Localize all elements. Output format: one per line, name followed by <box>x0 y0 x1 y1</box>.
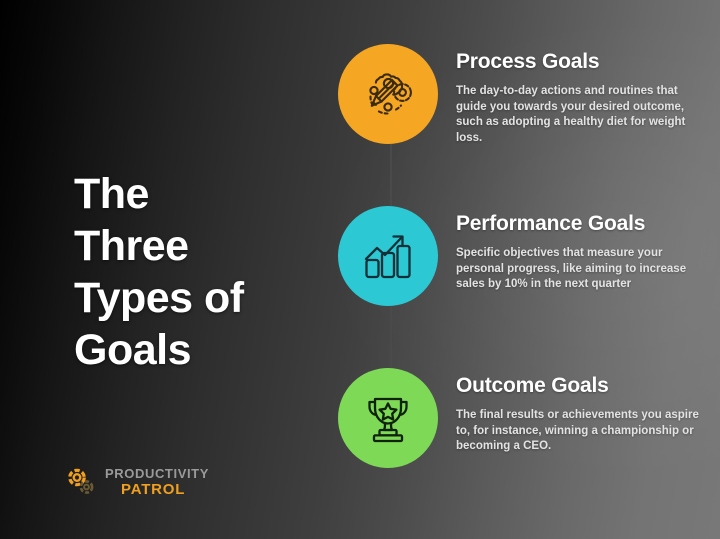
page-title-line-1: The <box>74 168 314 220</box>
goal-item-outcome: Outcome Goals The final results or achie… <box>338 368 710 468</box>
badge-outcome[interactable] <box>338 368 438 468</box>
goal-body-process: The day-to-day actions and routines that… <box>456 84 706 146</box>
goal-item-performance: Performance Goals Specific objectives th… <box>338 206 710 306</box>
goal-body-performance: Specific objectives that measure your pe… <box>456 246 710 293</box>
goal-title-outcome: Outcome Goals <box>456 374 706 398</box>
page-title-line-4: Goals <box>74 324 314 376</box>
pencil-gears-icon <box>357 63 419 125</box>
goal-text-process: Process Goals The day-to-day actions and… <box>456 44 706 146</box>
brand-logo[interactable]: PRODUCTIVITY PATROL <box>62 463 209 501</box>
page-title-line-3: Types of <box>74 272 314 324</box>
goal-item-process: Process Goals The day-to-day actions and… <box>338 44 710 146</box>
goal-text-performance: Performance Goals Specific objectives th… <box>456 206 710 293</box>
goal-text-outcome: Outcome Goals The final results or achie… <box>456 368 706 455</box>
brand-logo-text: PRODUCTIVITY PATROL <box>105 467 209 497</box>
brand-name-top: PRODUCTIVITY <box>105 467 209 480</box>
page-title: The Three Types of Goals <box>74 168 314 376</box>
page-title-line-2: Three <box>74 220 314 272</box>
goal-title-process: Process Goals <box>456 50 706 74</box>
bar-chart-growth-icon <box>358 226 418 286</box>
goal-body-outcome: The final results or achievements you as… <box>456 408 706 455</box>
trophy-icon <box>357 387 419 449</box>
infographic-canvas: The Three Types of Goals PRODUCTIVITY PA… <box>0 0 720 539</box>
goal-title-performance: Performance Goals <box>456 212 710 236</box>
badge-performance[interactable] <box>338 206 438 306</box>
brand-name-bottom: PATROL <box>121 482 209 497</box>
gears-icon <box>62 463 100 501</box>
badge-process[interactable] <box>338 44 438 144</box>
